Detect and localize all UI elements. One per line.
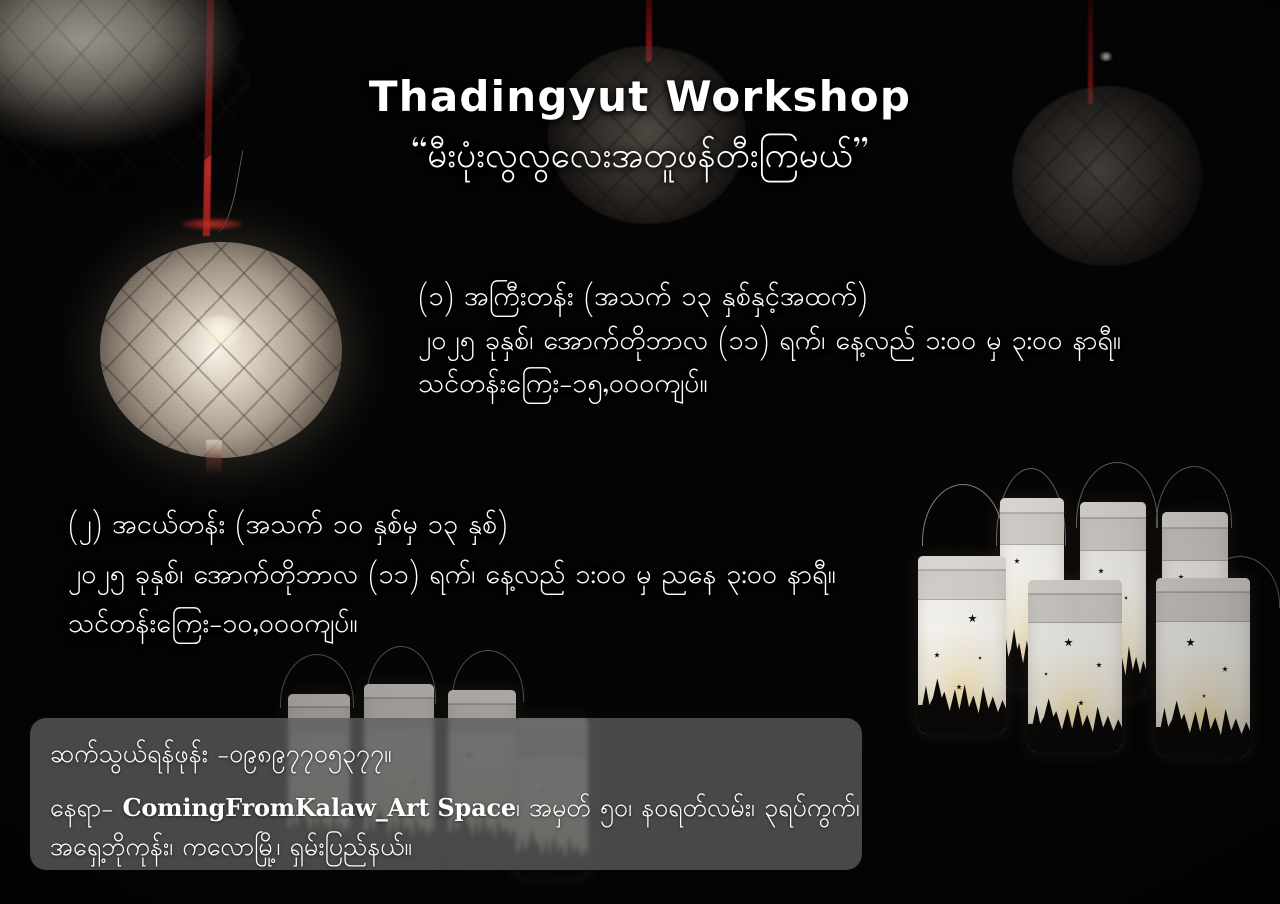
contact-address-line-2: အရှေ့ဘိုကုန်း၊ ကလောမြို့၊ ရှမ်းပြည်နယ်။	[50, 831, 848, 870]
poster-title-burmese: “မီးပုံးလွလွလေးအတူဖန်တီးကြမယ်”	[0, 138, 1280, 182]
contact-phone[interactable]: ဆက်သွယ်ရန်ဖုန်း -၀၉၈၉၇၇၀၅၃၇၇။	[50, 738, 848, 777]
address-detail: ၊ အမှတ် ၅၀၊ န၀ရတ်လမ်း၊ ၃ရပ်ကွက်၊	[516, 792, 860, 829]
contact-info-text: ဆက်သွယ်ရန်ဖုန်း -၀၉၈၉၇၇၀၅၃၇၇။ နေရာ- Comi…	[50, 738, 848, 869]
senior-class-heading: (၁) အကြီးတန်း (အသက် ၁၃ နှစ်နှင့်အထက်)	[418, 278, 1121, 322]
senior-class-block: (၁) အကြီးတန်း (အသက် ၁၃ နှစ်နှင့်အထက်) ၂၀…	[418, 278, 1121, 409]
junior-class-block: (၂) အငယ်တန်း (အသက် ၁၀ နှစ်မှ ၁၃ နှစ်) ၂၀…	[68, 506, 836, 655]
senior-class-fee: သင်တန်းကြေး-၁၅,၀၀၀ကျပ်။	[418, 365, 1121, 409]
contact-address-line-1: နေရာ- ComingFromKalaw_Art Space၊ အမှတ် ၅…	[50, 789, 848, 831]
junior-class-fee: သင်တန်းကြေး-၁၀,၀၀၀ကျပ်။	[68, 605, 836, 649]
address-label: နေရာ-	[50, 792, 122, 829]
junior-class-heading: (၂) အငယ်တန်း (အသက် ၁၀ နှစ်မှ ၁၃ နှစ်)	[68, 506, 836, 550]
poster-text: Thadingyut Workshop “မီးပုံးလွလွလေးအတူဖန…	[0, 0, 1280, 904]
poster-title-english: Thadingyut Workshop	[0, 72, 1280, 121]
venue-name: ComingFromKalaw_Art Space	[122, 793, 516, 822]
contact-info-panel: ဆက်သွယ်ရန်ဖုန်း -၀၉၈၉၇၇၀၅၃၇၇။ နေရာ- Comi…	[30, 718, 862, 870]
senior-class-schedule: ၂၀၂၅ ခုနှစ်၊ အောက်တိုဘာလ (၁၁) ရက်၊ နေ့လည…	[418, 322, 1121, 366]
junior-class-schedule: ၂၀၂၅ ခုနှစ်၊ အောက်တိုဘာလ (၁၁) ရက်၊ နေ့လည…	[68, 556, 836, 600]
poster-canvas: Thadingyut Workshop “မီးပုံးလွလွလေးအတူဖန…	[0, 0, 1280, 904]
